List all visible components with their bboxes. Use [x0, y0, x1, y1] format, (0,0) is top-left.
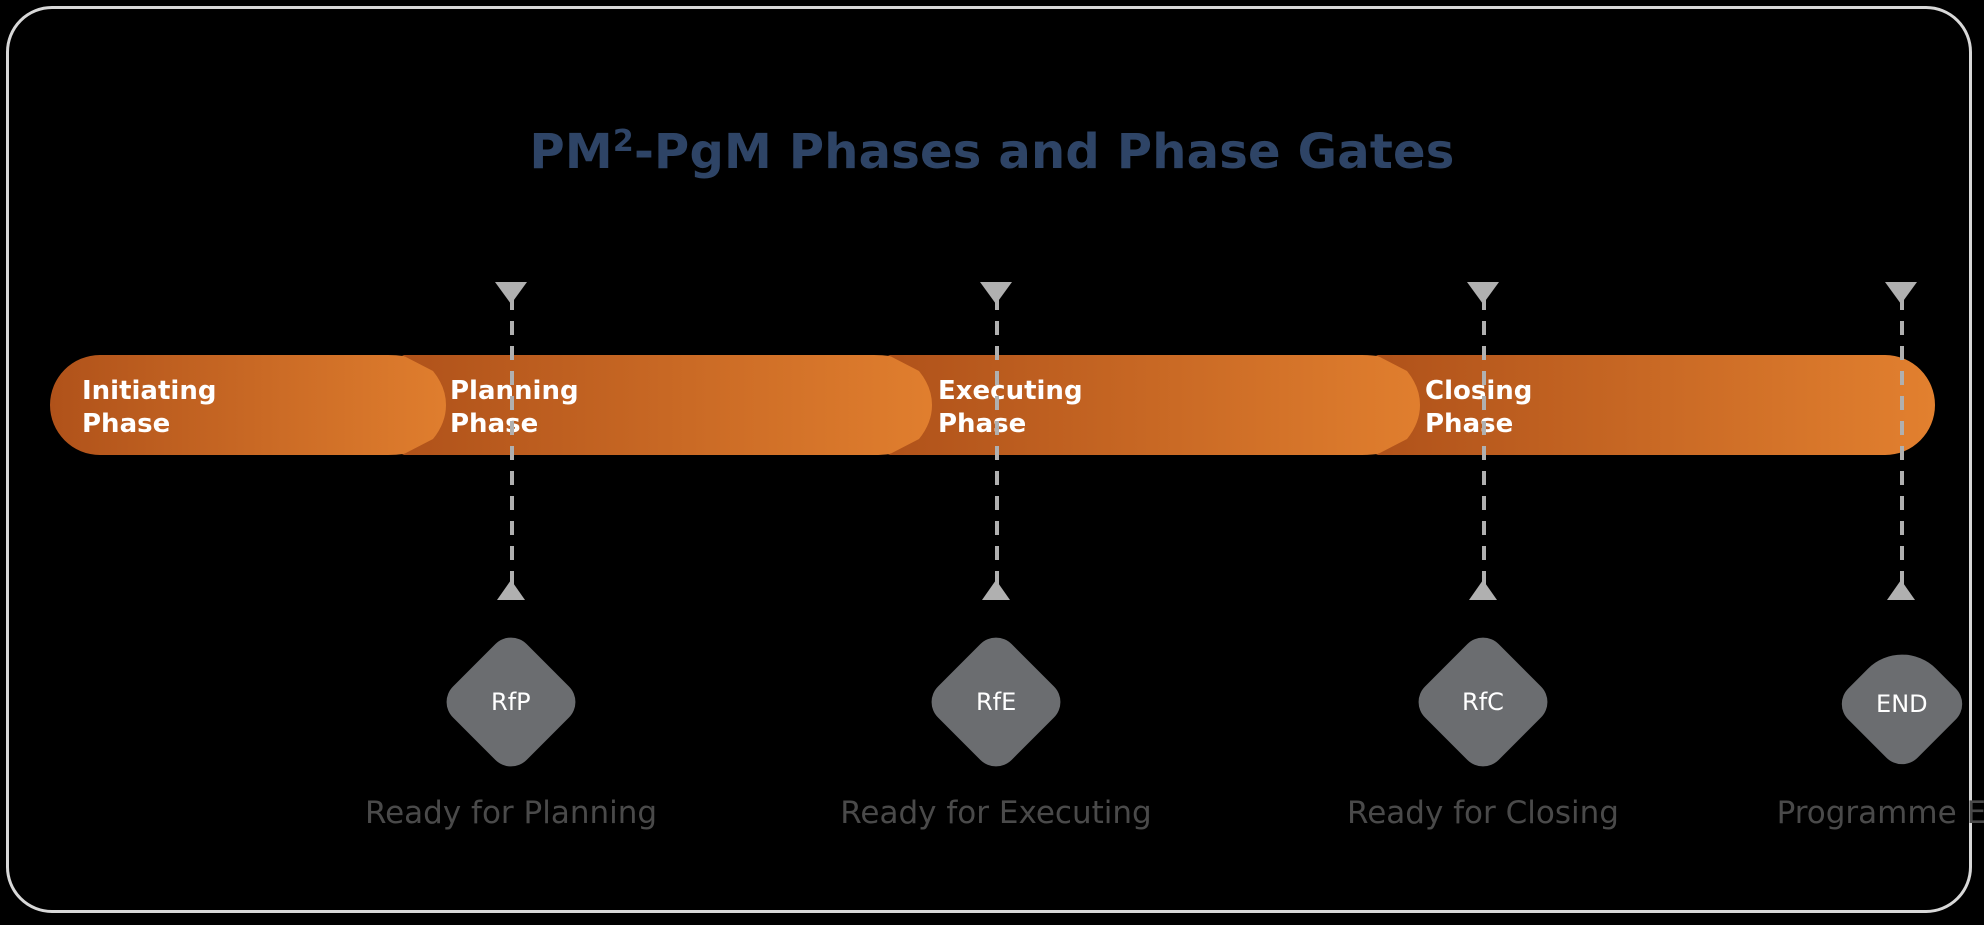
page-title: PM2-PgM Phases and Phase Gates [0, 124, 1984, 180]
phase-bar-shapes [50, 355, 1935, 455]
phase-gate-rfc-caption: Ready for Closing [1223, 795, 1743, 831]
phase-segment-planning [402, 355, 952, 455]
phase-gate-rfe-code: RfE [976, 688, 1016, 716]
phase-bar: Initiating Phase Planning Phase Executin… [50, 355, 1935, 455]
phase-gate-rfp[interactable]: RfP [437, 628, 584, 775]
gate-column-rfc: RfC Ready for Closing [1483, 0, 1485, 925]
gate-arrow-up-icon [1469, 580, 1497, 600]
gate-column-rfe: RfE Ready for Executing [996, 0, 998, 925]
gate-arrow-up-icon [1887, 580, 1915, 600]
diagram-canvas: PM2-PgM Phases and Phase Gates [0, 0, 1984, 925]
phase-gate-rfp-code: RfP [491, 688, 531, 716]
gate-arrow-up-icon [982, 580, 1010, 600]
title-prefix: PM [530, 124, 613, 180]
phase-gate-rfe-caption: Ready for Executing [736, 795, 1256, 831]
gate-dashed-connector [510, 296, 514, 590]
phase-gate-rfp-caption: Ready for Planning [251, 795, 771, 831]
gate-column-end: END Programme End [1901, 0, 1903, 925]
gate-dashed-connector [1900, 296, 1904, 590]
title-superscript: 2 [613, 124, 634, 159]
phase-gate-rfc[interactable]: RfC [1409, 628, 1556, 775]
phase-segment-closing [1376, 355, 1935, 455]
phase-segment-executing [888, 355, 1440, 455]
phase-gate-end[interactable]: END [1833, 635, 1972, 774]
gate-column-rfp: RfP Ready for Planning [511, 0, 513, 925]
phase-gate-end-caption: Programme End [1761, 795, 1984, 831]
gate-dashed-connector [995, 296, 999, 590]
gate-arrow-up-icon [497, 580, 525, 600]
phase-segment-initiating [50, 355, 466, 455]
phase-gate-rfc-code: RfC [1462, 688, 1504, 716]
phase-gate-rfe[interactable]: RfE [922, 628, 1069, 775]
phase-gate-end-code: END [1876, 690, 1928, 718]
title-rest: -PgM Phases and Phase Gates [634, 124, 1455, 180]
gate-dashed-connector [1482, 296, 1486, 590]
